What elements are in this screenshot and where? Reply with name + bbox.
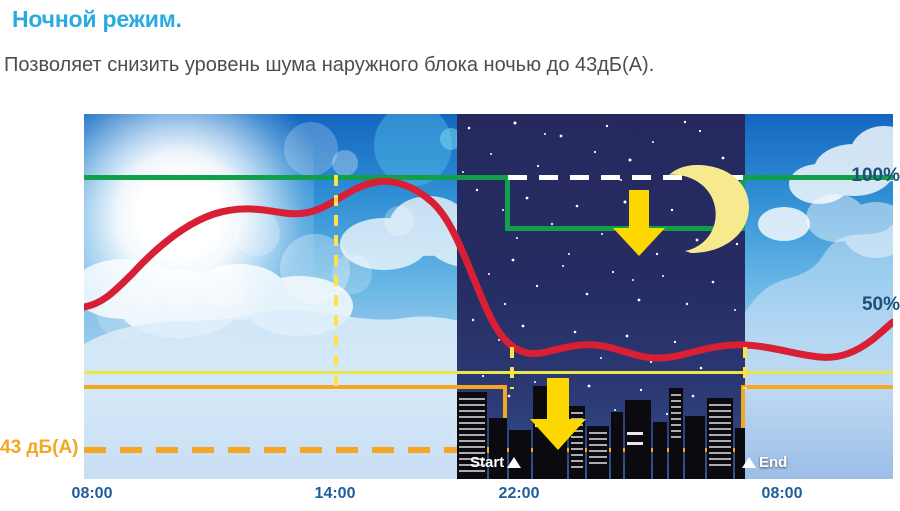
y-axis-label-43db: 43 дБ(A) (0, 437, 84, 459)
crescent-moon-icon (667, 163, 755, 255)
y-axis-label-100: 100% (822, 165, 900, 187)
x-axis-label-1: 14:00 (315, 485, 356, 503)
x-axis-label-3: 08:00 (762, 485, 803, 503)
chart-canvas: Start End (84, 114, 893, 479)
down-arrow-icon (530, 378, 586, 450)
yellow-dashed-vertical-end (743, 347, 747, 389)
triangle-up-icon (507, 457, 521, 468)
start-marker[interactable]: Start (470, 454, 521, 471)
page-title: Ночной режим. (12, 6, 182, 33)
yellow-dashed-vertical-start (510, 347, 514, 389)
end-marker-label: End (759, 454, 787, 471)
page-subtitle: Позволяет снизить уровень шума наружного… (4, 54, 654, 77)
x-axis-label-0: 08:00 (72, 485, 113, 503)
down-arrow-icon (613, 190, 665, 256)
y-axis-label-50: 50% (822, 294, 900, 316)
yellow-dashed-vertical-14h (334, 175, 338, 387)
start-marker-label: Start (470, 454, 504, 471)
night-mode-infographic: Ночной режим. Позволяет снизить уровень … (0, 0, 900, 511)
x-axis-label-2: 22:00 (499, 485, 540, 503)
triangle-up-icon (742, 457, 756, 468)
red-performance-curve (84, 114, 893, 479)
end-marker[interactable]: End (742, 454, 787, 471)
